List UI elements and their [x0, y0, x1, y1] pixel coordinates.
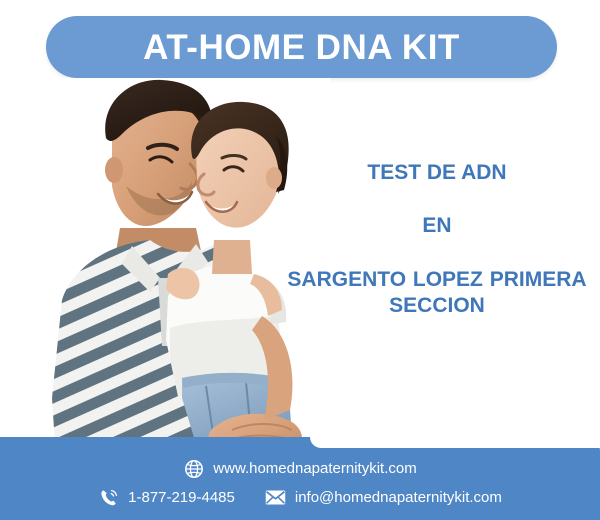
poster-title: AT-HOME DNA KIT [143, 30, 460, 65]
title-banner: AT-HOME DNA KIT [46, 16, 557, 78]
phone-label: 1-877-219-4485 [128, 489, 235, 507]
headline-block: TEST DE ADN EN SARGENTO LOPEZ PRIMERA SE… [274, 160, 600, 319]
phone-icon [98, 487, 119, 508]
envelope-icon [265, 487, 286, 508]
headline-service: TEST DE ADN [274, 160, 600, 186]
footer-row-website: www.homednapaternitykit.com [183, 458, 416, 479]
headline-location: SARGENTO LOPEZ PRIMERA SECCION [274, 267, 600, 319]
phone-item[interactable]: 1-877-219-4485 [98, 487, 235, 508]
globe-icon [183, 458, 204, 479]
dna-test-promo-poster: AT-HOME DNA KIT [0, 0, 600, 520]
email-label: info@homednapaternitykit.com [295, 489, 502, 507]
footer-row-contact: 1-877-219-4485 info@homednapaternitykit.… [98, 487, 502, 508]
email-item[interactable]: info@homednapaternitykit.com [265, 487, 502, 508]
contact-footer-rows: www.homednapaternitykit.com 1-877-219-44… [0, 437, 600, 520]
contact-footer: www.homednapaternitykit.com 1-877-219-44… [0, 437, 600, 520]
website-label: www.homednapaternitykit.com [213, 460, 416, 478]
footer-corner-notch [310, 437, 600, 448]
website-item[interactable]: www.homednapaternitykit.com [183, 458, 416, 479]
headline-connector: EN [274, 213, 600, 239]
